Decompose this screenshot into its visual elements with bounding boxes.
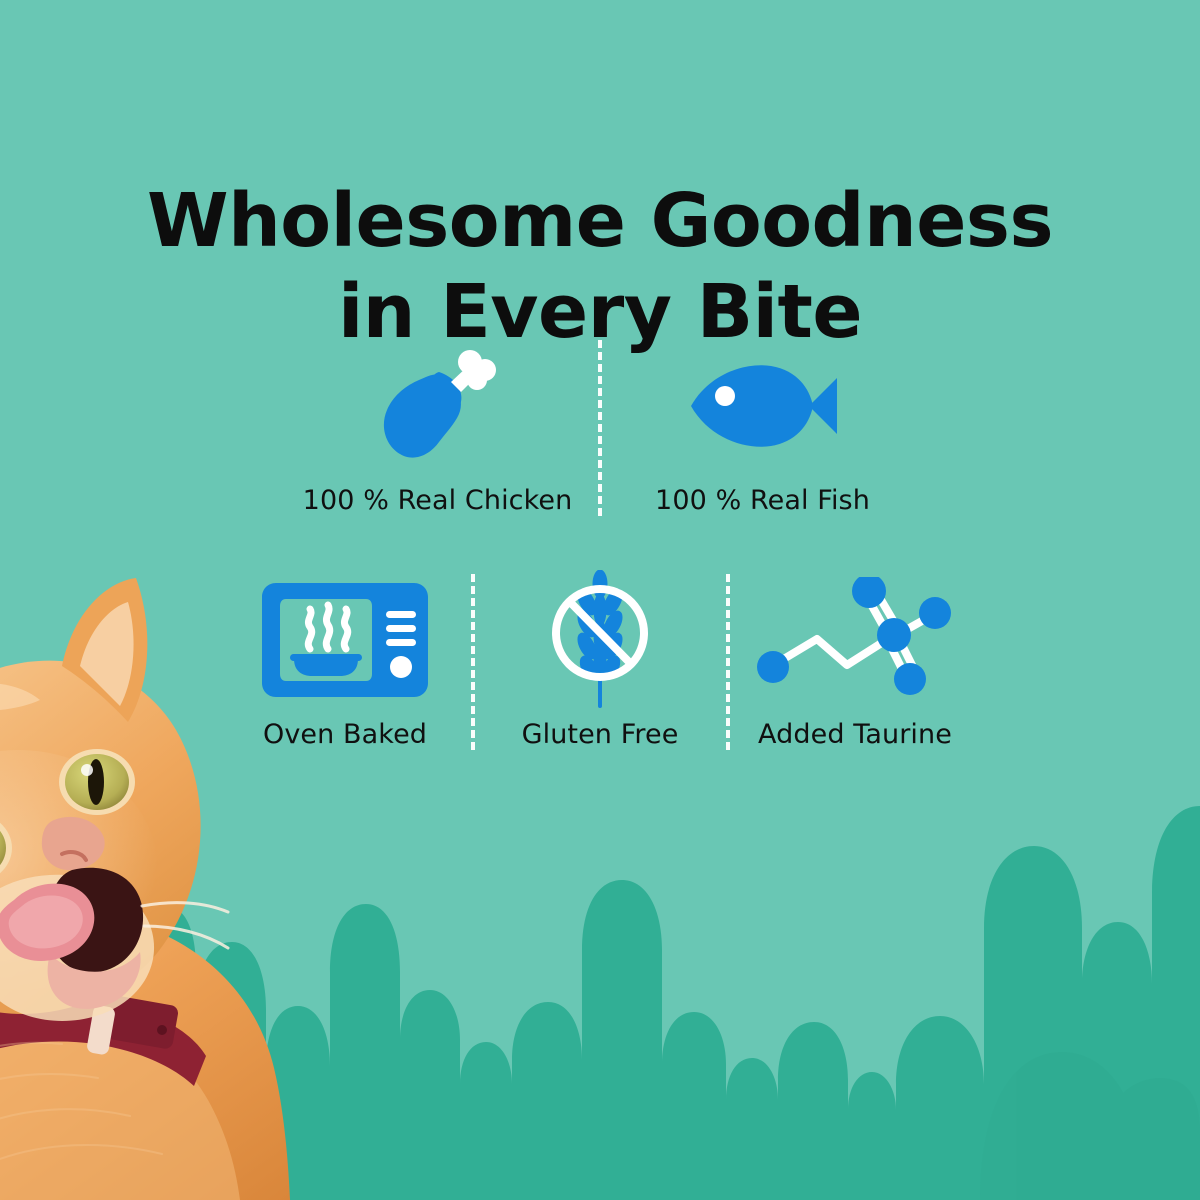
feature-divider	[598, 340, 602, 516]
feature-gluten-free: Gluten Free	[493, 575, 708, 750]
feature-oven-baked: Oven Baked	[238, 575, 453, 750]
grass-bush-silhouette	[0, 680, 1200, 1200]
feature-divider	[471, 574, 475, 750]
no-gluten-wheat-icon	[535, 570, 665, 710]
feature-divider	[726, 574, 730, 750]
fish-icon-box	[683, 341, 843, 471]
fish-icon	[683, 356, 843, 456]
page-title: Wholesome Goodness in Every Bite	[0, 176, 1200, 358]
feature-row-1: 100 % Real Chicken 100 % Real Fish	[0, 340, 1200, 516]
feature-label: Added Taurine	[758, 719, 952, 750]
headline-line-1: Wholesome Goodness	[0, 176, 1200, 267]
gluten-free-icon-box	[535, 575, 665, 705]
taurine-icon-box	[755, 575, 955, 705]
feature-row-2: Oven Baked	[0, 574, 1200, 750]
feature-label: Gluten Free	[522, 719, 679, 750]
taurine-molecule-icon	[755, 577, 955, 703]
feature-added-taurine: Added Taurine	[748, 575, 963, 750]
chicken-icon-box	[373, 341, 503, 471]
feature-grid: 100 % Real Chicken 100 % Real Fish	[0, 340, 1200, 750]
cat-eye-right	[59, 749, 135, 815]
feature-label: 100 % Real Chicken	[303, 485, 573, 516]
poster-canvas: Wholesome Goodness in Every Bite	[0, 0, 1200, 1200]
feature-label: 100 % Real Fish	[655, 485, 870, 516]
oven-icon-box	[260, 575, 430, 705]
cat-eye-left	[0, 812, 12, 884]
feature-label: Oven Baked	[263, 719, 427, 750]
feature-real-fish: 100 % Real Fish	[620, 341, 905, 516]
feature-real-chicken: 100 % Real Chicken	[295, 341, 580, 516]
chicken-drumstick-icon	[373, 342, 503, 470]
oven-icon	[260, 577, 430, 703]
